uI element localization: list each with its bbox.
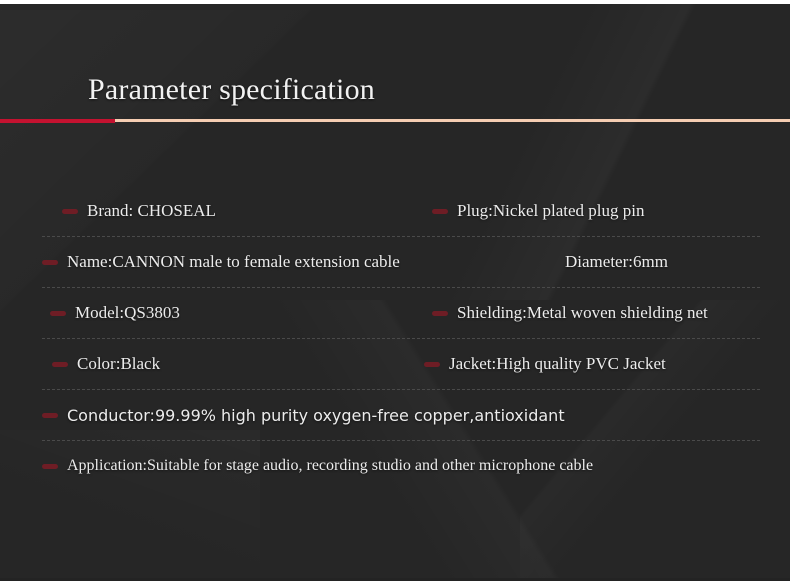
spec-label: Model:QS3803: [75, 303, 180, 323]
table-row: Name:CANNON male to female extension cab…: [42, 237, 760, 288]
spec-label: Name:CANNON male to female extension cab…: [67, 252, 400, 272]
spec-label: Application:Suitable for stage audio, re…: [67, 457, 593, 475]
table-row: Application:Suitable for stage audio, re…: [42, 441, 760, 491]
bullet-dash-icon: [62, 209, 78, 214]
spec-item-conductor: Conductor:99.99% high purity oxygen-free…: [42, 406, 760, 425]
bullet-dash-icon: [42, 413, 58, 418]
spec-item-shielding: Shielding:Metal woven shielding net: [410, 303, 760, 323]
page-title: Parameter specification: [88, 70, 375, 110]
header-divider-rule: [0, 119, 790, 123]
table-row: Model:QS3803 Shielding:Metal woven shiel…: [42, 288, 760, 339]
bullet-dash-icon: [52, 362, 68, 367]
spec-item-plug: Plug:Nickel plated plug pin: [422, 201, 760, 221]
spec-label: Brand: CHOSEAL: [87, 201, 216, 221]
spec-label: Conductor:99.99% high purity oxygen-free…: [67, 406, 565, 425]
bullet-dash-icon: [424, 362, 440, 367]
spec-label: Shielding:Metal woven shielding net: [457, 303, 708, 323]
table-row: Conductor:99.99% high purity oxygen-free…: [42, 390, 760, 441]
spec-item-color: Color:Black: [42, 354, 412, 374]
header-rule-red-segment: [0, 119, 115, 123]
table-row: Color:Black Jacket:High quality PVC Jack…: [42, 339, 760, 390]
spec-label: Diameter:6mm: [565, 252, 668, 272]
spec-item-diameter: Diameter:6mm: [402, 252, 760, 272]
top-white-strip: [0, 0, 790, 4]
specification-table: Brand: CHOSEAL Plug:Nickel plated plug p…: [42, 186, 760, 491]
spec-label: Plug:Nickel plated plug pin: [457, 201, 644, 221]
spec-item-jacket: Jacket:High quality PVC Jacket: [412, 354, 760, 374]
specification-slide: Parameter specification Brand: CHOSEAL P…: [0, 0, 790, 581]
bullet-dash-icon: [432, 209, 448, 214]
bullet-dash-icon: [42, 260, 58, 265]
spec-label: Jacket:High quality PVC Jacket: [449, 354, 666, 374]
bullet-dash-icon: [50, 311, 66, 316]
spec-item-brand: Brand: CHOSEAL: [42, 201, 422, 221]
bullet-dash-icon: [432, 311, 448, 316]
spec-item-name: Name:CANNON male to female extension cab…: [42, 252, 402, 272]
bullet-dash-icon: [42, 464, 58, 469]
header-rule-tan-segment: [115, 119, 790, 122]
spec-item-application: Application:Suitable for stage audio, re…: [42, 457, 760, 475]
spec-label: Color:Black: [77, 354, 160, 374]
table-row: Brand: CHOSEAL Plug:Nickel plated plug p…: [42, 186, 760, 237]
spec-item-model: Model:QS3803: [42, 303, 410, 323]
